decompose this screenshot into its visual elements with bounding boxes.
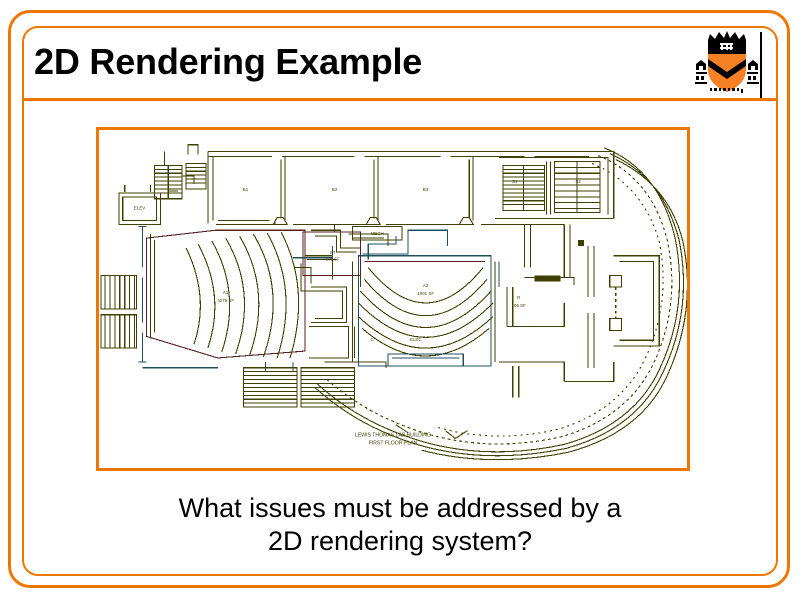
page-title: 2D Rendering Example — [34, 40, 422, 84]
slide-canvas: 2D Rendering Example — [0, 0, 800, 600]
svg-text:4275 SF: 4275 SF — [217, 298, 234, 303]
logo-vertical-rule — [760, 32, 762, 98]
svg-text:R: R — [517, 295, 520, 300]
svg-text:605 SF: 605 SF — [325, 257, 340, 262]
svg-text:B3: B3 — [423, 187, 429, 192]
plan-caption-line1: LEWIS THOMAS LAB BUILDING — [355, 433, 431, 439]
svg-text:A1: A1 — [223, 290, 229, 295]
svg-text:S2: S2 — [575, 179, 581, 184]
svg-text:B1: B1 — [243, 187, 249, 192]
plan-caption-line2: FIRST FLOOR PLAN — [369, 440, 418, 446]
princeton-shield-icon — [690, 28, 764, 100]
svg-text:S1: S1 — [512, 179, 518, 184]
svg-text:ST: ST — [330, 250, 336, 255]
question-line-2: 2D rendering system? — [60, 525, 740, 558]
title-bar: 2D Rendering Example — [22, 26, 778, 101]
slide-question-text: What issues must be addressed by a 2D re… — [60, 492, 740, 558]
svg-text:ELEC: ELEC — [410, 337, 422, 342]
svg-text:B2: B2 — [332, 187, 338, 192]
svg-text:ELEV: ELEV — [134, 206, 145, 211]
svg-text:A2: A2 — [423, 283, 429, 288]
svg-text:1001 SF: 1001 SF — [417, 291, 434, 296]
floor-plan-figure: B1 B2 B3 ELEV A1 4275 SF A2 1001 SF MECH… — [96, 127, 690, 471]
svg-text:MECH: MECH — [371, 231, 384, 236]
svg-text:105 SF: 105 SF — [512, 303, 527, 308]
question-line-1: What issues must be addressed by a — [60, 492, 740, 525]
